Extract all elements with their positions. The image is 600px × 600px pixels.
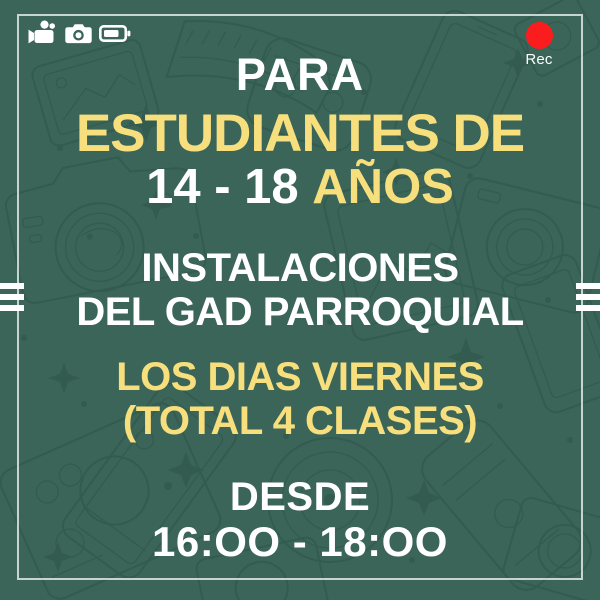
age-range-numbers: 14 - 18 xyxy=(146,160,299,214)
headline-para: PARA xyxy=(0,52,600,97)
headline-age-range: 14 - 18 AÑOS xyxy=(0,163,600,212)
battery-icon xyxy=(99,24,131,43)
media-icon-row xyxy=(28,20,131,46)
schedule-line-1: LOS DIAS VIERNES xyxy=(0,357,600,397)
rec-dot-icon xyxy=(526,22,553,49)
poster-text-content: PARA ESTUDIANTES DE 14 - 18 AÑOS INSTALA… xyxy=(0,0,600,600)
poster-canvas: .dl { fill:none; stroke:#2d5449; stroke-… xyxy=(0,0,600,600)
left-edge-bar-1 xyxy=(0,283,24,289)
location-line-2: DEL GAD PARROQUIAL xyxy=(0,292,600,332)
headline-estudiantes: ESTUDIANTES DE xyxy=(0,107,600,160)
rec-indicator: Rec xyxy=(511,22,567,68)
left-edge-bars xyxy=(0,283,24,311)
left-edge-bar-3 xyxy=(0,305,24,311)
time-label: DESDE xyxy=(0,477,600,517)
video-camera-icon xyxy=(28,20,58,46)
photo-camera-icon xyxy=(65,22,92,45)
right-edge-bar-3 xyxy=(576,305,600,311)
location-line-1: INSTALACIONES xyxy=(0,248,600,288)
time-range: 16:OO - 18:OO xyxy=(0,521,600,563)
age-range-unit: AÑOS xyxy=(312,160,454,214)
schedule-line-2: (TOTAL 4 CLASES) xyxy=(0,401,600,441)
rec-label: Rec xyxy=(525,51,552,68)
right-edge-bar-2 xyxy=(576,294,600,300)
right-edge-bar-1 xyxy=(576,283,600,289)
left-edge-bar-2 xyxy=(0,294,24,300)
right-edge-bars xyxy=(576,283,600,311)
